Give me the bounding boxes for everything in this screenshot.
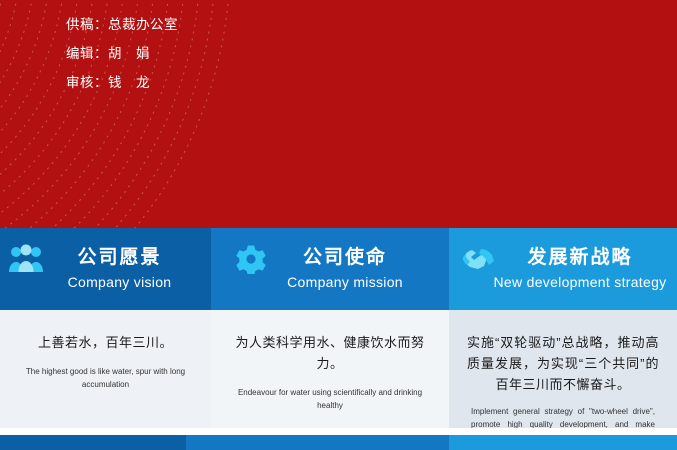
bottom-strip-segment-2 (186, 435, 449, 450)
band-title-cn-strategy: 发展新战略 (527, 246, 632, 270)
slide-page: 供稿：总裁办公室 编辑：胡 娟 审核：钱 龙 公司愿景 Company visi… (0, 0, 677, 450)
top-red-banner: 供稿：总裁办公室 编辑：胡 娟 审核：钱 龙 (0, 0, 677, 228)
panel-strategy: 实施“双轮驱动”总战略，推动高质量发展，为实现“三个共同”的百年三川而不懈奋斗。… (449, 310, 677, 435)
credit-line-reviewer: 审核：钱 龙 (66, 68, 178, 97)
section-header-band: 公司愿景 Company vision 公司使命 Company mission (0, 228, 677, 310)
panel-text-cn-mission: 为人类科学用水、健康饮水而努力。 (225, 332, 435, 374)
panel-divider (0, 428, 677, 435)
credit-line-contributor: 供稿：总裁办公室 (66, 10, 178, 39)
band-title-en-mission: Company mission (287, 272, 403, 292)
band-title-cn-mission: 公司使命 (303, 246, 387, 270)
credit-line-editor: 编辑：胡 娟 (66, 39, 178, 68)
handshake-icon (461, 244, 497, 274)
credits-block: 供稿：总裁办公室 编辑：胡 娟 审核：钱 龙 (66, 10, 178, 97)
panel-text-en-mission: Endeavour for water using scientifically… (225, 386, 435, 412)
people-group-icon (8, 244, 44, 274)
gear-icon (233, 244, 269, 274)
panel-vision: 上善若水，百年三川。 The highest good is like wate… (0, 310, 211, 435)
band-column-vision: 公司愿景 Company vision (0, 228, 211, 310)
panel-mission: 为人类科学用水、健康饮水而努力。 Endeavour for water usi… (211, 310, 449, 435)
content-panels: 上善若水，百年三川。 The highest good is like wate… (0, 310, 677, 435)
panel-text-cn-strategy: 实施“双轮驱动”总战略，推动高质量发展，为实现“三个共同”的百年三川而不懈奋斗。 (463, 332, 663, 395)
bottom-color-strip (0, 435, 677, 450)
band-title-cn-vision: 公司愿景 (77, 246, 161, 270)
band-column-strategy: 发展新战略 New development strategy (449, 228, 677, 310)
band-title-en-vision: Company vision (68, 272, 172, 292)
band-column-mission: 公司使命 Company mission (211, 228, 449, 310)
bottom-strip-segment-1 (0, 435, 186, 450)
band-title-en-strategy: New development strategy (494, 272, 667, 292)
bottom-strip-segment-3 (449, 435, 677, 450)
panel-text-cn-vision: 上善若水，百年三川。 (14, 332, 197, 353)
panel-text-en-vision: The highest good is like water, spur wit… (14, 365, 197, 391)
